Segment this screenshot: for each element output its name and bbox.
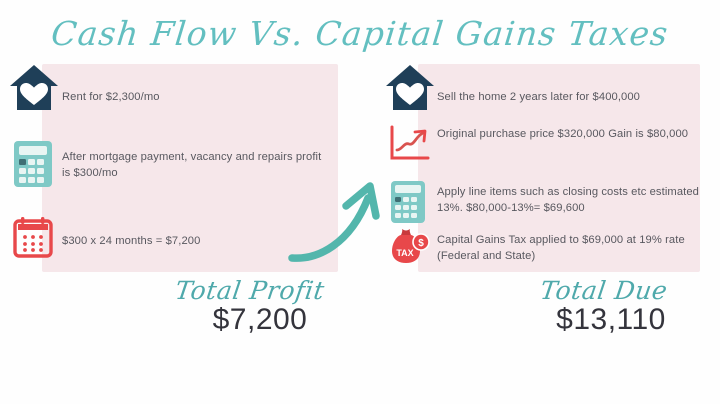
house-heart-icon	[384, 62, 436, 114]
tax-money-bag-icon: TAX $	[388, 226, 432, 266]
right-row-capitalgains: TAX $ Capital Gains Tax applied to $69,0…	[380, 226, 710, 276]
right-row-lineitems-text: Apply line items such as closing costs e…	[437, 184, 709, 216]
left-row-rent: Rent for $2,300/mo	[0, 62, 340, 120]
right-row-gain: Original purchase price $320,000 Gain is…	[380, 120, 710, 176]
total-due-amount: $13,110	[518, 303, 704, 337]
growth-chart-icon	[388, 124, 432, 164]
right-row-gain-text: Original purchase price $320,000 Gain is…	[437, 126, 707, 142]
calculator-icon	[13, 140, 53, 188]
calculator-icon	[390, 180, 426, 224]
left-row-months-text: $300 x 24 months = $7,200	[62, 233, 322, 249]
right-row-sell: Sell the home 2 years later for $400,000	[380, 62, 710, 120]
left-row-profit-text: After mortgage payment, vacancy and repa…	[62, 149, 324, 181]
total-profit-label: Total Profit	[140, 276, 360, 305]
right-row-sell-text: Sell the home 2 years later for $400,000	[437, 89, 707, 105]
calendar-icon	[12, 216, 54, 258]
right-row-capitalgains-text: Capital Gains Tax applied to $69,000 at …	[437, 232, 707, 264]
total-profit-amount: $7,200	[162, 303, 358, 337]
total-due: Total Due $13,110	[508, 276, 704, 337]
svg-text:$: $	[418, 238, 424, 249]
right-row-lineitems: Apply line items such as closing costs e…	[380, 178, 710, 230]
house-heart-icon	[8, 62, 60, 114]
total-profit: Total Profit $7,200	[148, 276, 358, 337]
page-title: Cash Flow Vs. Capital Gains Taxes	[0, 14, 720, 53]
left-row-rent-text: Rent for $2,300/mo	[62, 89, 322, 105]
svg-text:TAX: TAX	[396, 248, 413, 258]
total-due-label: Total Due	[502, 276, 706, 305]
